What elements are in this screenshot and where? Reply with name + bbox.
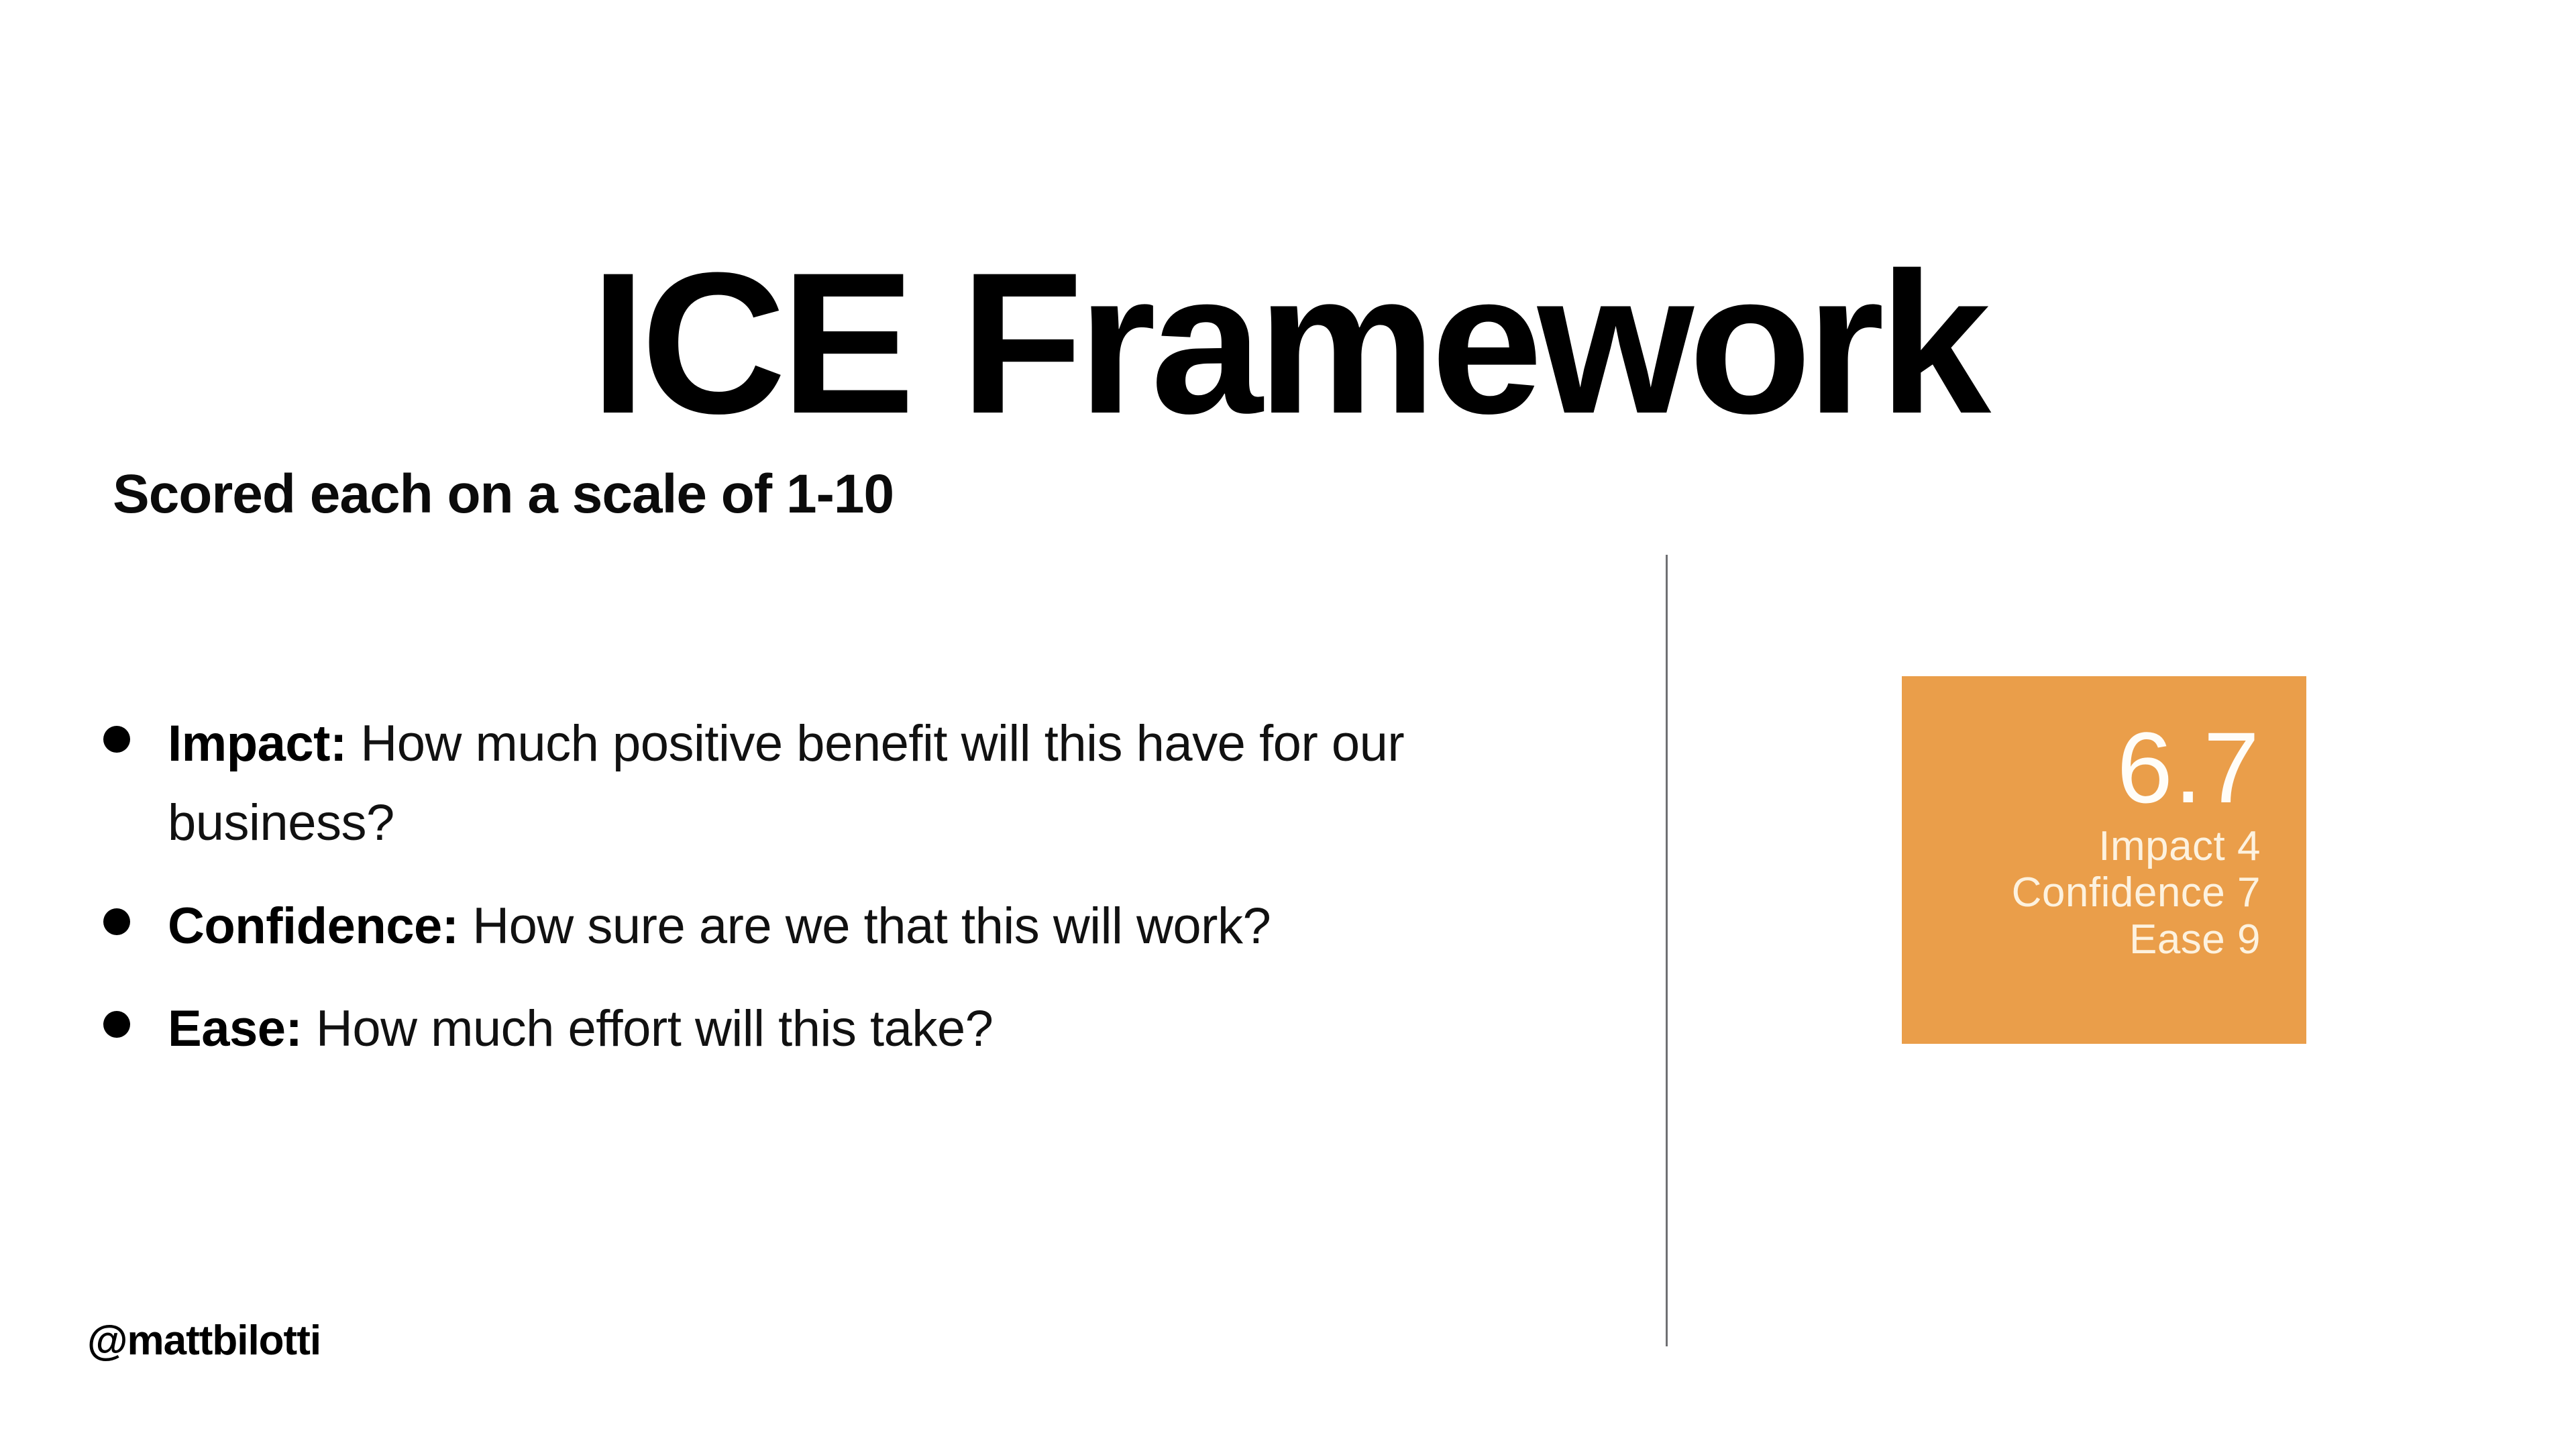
bullet-dot-icon — [103, 1011, 130, 1038]
page-title: ICE Framework — [0, 242, 2576, 443]
score-line-confidence: Confidence 7 — [1902, 869, 2261, 916]
criteria-list: Impact: How much positive benefit will t… — [101, 704, 1576, 1069]
slide-subtitle: Scored each on a scale of 1-10 — [113, 463, 894, 526]
score-line-impact: Impact 4 — [1902, 823, 2261, 869]
list-item-term: Ease: — [168, 1000, 302, 1057]
list-item-description: How much positive benefit will this have… — [168, 715, 1404, 851]
score-total-value: 6.7 — [1902, 716, 2261, 819]
list-item-term: Impact: — [168, 715, 347, 772]
list-item: Impact: How much positive benefit will t… — [101, 704, 1576, 863]
author-handle: @mattbilotti — [87, 1318, 321, 1364]
column-divider — [1666, 555, 1668, 1346]
bullet-dot-icon — [103, 908, 130, 935]
score-line-ease: Ease 9 — [1902, 916, 2261, 963]
list-item-description: How much effort will this take? — [302, 1000, 993, 1057]
score-breakdown: Impact 4 Confidence 7 Ease 9 — [1902, 823, 2261, 963]
list-item: Ease: How much effort will this take? — [101, 989, 1576, 1069]
bullet-dot-icon — [103, 726, 130, 753]
list-item: Confidence: How sure are we that this wi… — [101, 887, 1576, 966]
list-item-term: Confidence: — [168, 898, 459, 955]
score-card: 6.7 Impact 4 Confidence 7 Ease 9 — [1902, 676, 2306, 1044]
list-item-description: How sure are we that this will work? — [459, 898, 1271, 955]
slide-canvas: ICE Framework Scored each on a scale of … — [0, 0, 2576, 1449]
